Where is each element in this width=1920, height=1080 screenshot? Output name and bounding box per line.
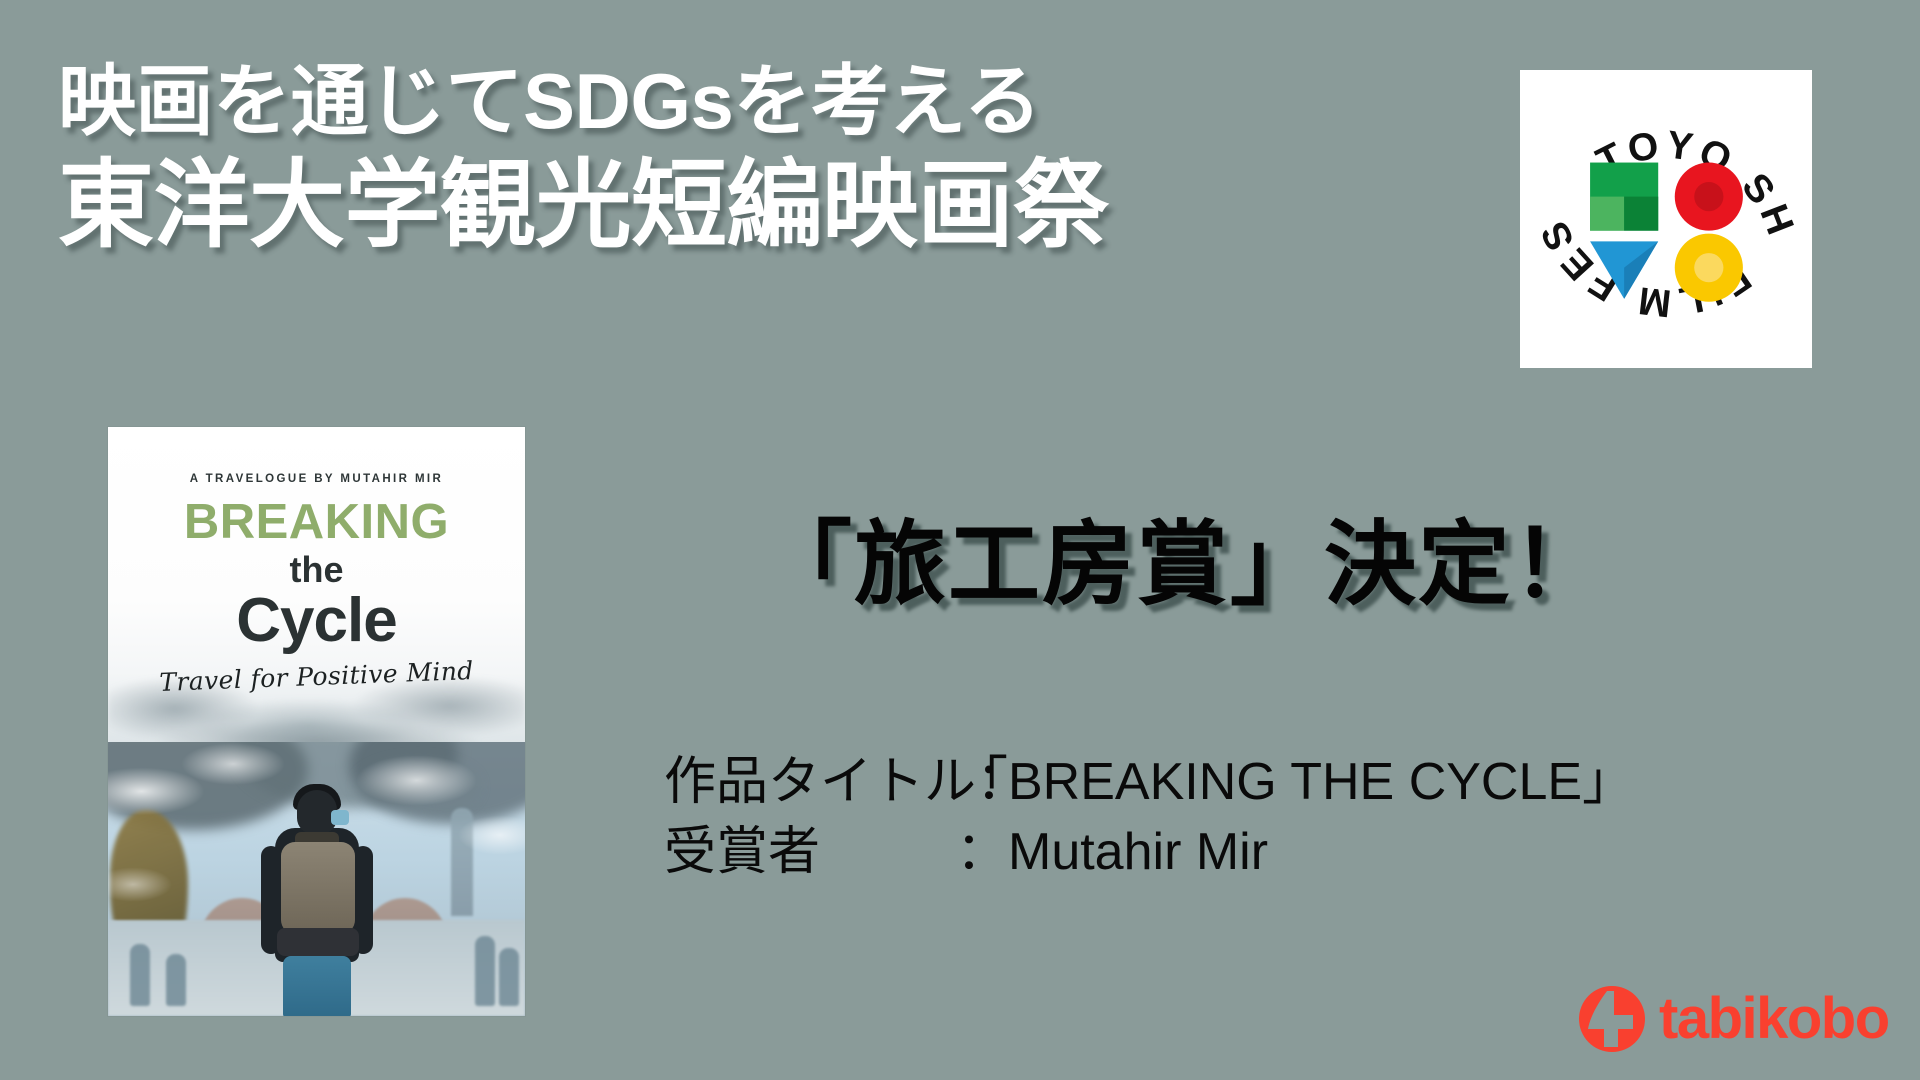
figure-face-mask — [331, 810, 349, 825]
tabikobo-logo: tabikobo — [1576, 983, 1889, 1055]
poster-title-the: the — [108, 552, 525, 588]
detail-value-recipient: ：Mutahir Mir — [956, 818, 1268, 888]
backpack — [281, 842, 355, 934]
traveler-figure — [235, 780, 399, 1016]
festival-title-line-1: 映画を通じてSDGsを考える — [58, 62, 1109, 140]
detail-value-work-title: 「BREAKING THE CYCLE」 — [956, 748, 1634, 818]
detail-row-recipient: 受賞者 ：Mutahir Mir — [664, 818, 1634, 888]
figure-jeans — [283, 956, 351, 1016]
tower-shape — [451, 808, 473, 916]
logo-red-circle-icon — [1675, 163, 1743, 231]
award-details: 作品タイトル： 「BREAKING THE CYCLE」 受賞者 ：Mutahi… — [664, 748, 1634, 887]
festival-title-block: 映画を通じてSDGsを考える 東洋大学観光短編映画祭 — [58, 62, 1109, 254]
poster-title-breaking: BREAKING — [108, 498, 525, 547]
detail-row-title: 作品タイトル： 「BREAKING THE CYCLE」 — [664, 748, 1634, 818]
bystander-figure — [130, 944, 150, 1006]
tabikobo-wordmark: tabikobo — [1659, 990, 1889, 1048]
toyo-short-film-festival-logo: TOYO SHORT FILM FESTIVAL — [1520, 70, 1812, 368]
presentation-slide: 映画を通じてSDGsを考える 東洋大学観光短編映画祭 TOYO SHORT FI… — [0, 0, 1920, 1080]
poster-photograph — [108, 742, 525, 1016]
bystander-figure — [475, 936, 495, 1006]
poster-title-cycle: Cycle — [108, 590, 525, 652]
festival-title-line-2: 東洋大学観光短編映画祭 — [58, 158, 1109, 254]
bystander-figure — [499, 948, 519, 1006]
toyo-logo-graphic: TOYO SHORT FILM FESTIVAL — [1520, 70, 1812, 368]
detail-label-work-title: 作品タイトル： — [664, 748, 956, 818]
detail-label-recipient: 受賞者 — [664, 818, 956, 888]
tabikobo-mark-icon — [1576, 983, 1648, 1055]
award-headline: 「旅工房賞」決定！ — [760, 490, 1606, 623]
poster-title-area: A TRAVELOGUE BY MUTAHIR MIR BREAKING the… — [108, 427, 525, 742]
bystander-figure — [166, 954, 186, 1006]
backpack-pouch — [277, 928, 359, 956]
movie-poster: A TRAVELOGUE BY MUTAHIR MIR BREAKING the… — [108, 427, 525, 1016]
poster-kicker: A TRAVELOGUE BY MUTAHIR MIR — [108, 427, 525, 485]
poster-tagline: Travel for Positive Mind — [108, 654, 525, 699]
logo-green-square-icon — [1590, 163, 1658, 231]
logo-yellow-circle-icon — [1675, 234, 1743, 302]
